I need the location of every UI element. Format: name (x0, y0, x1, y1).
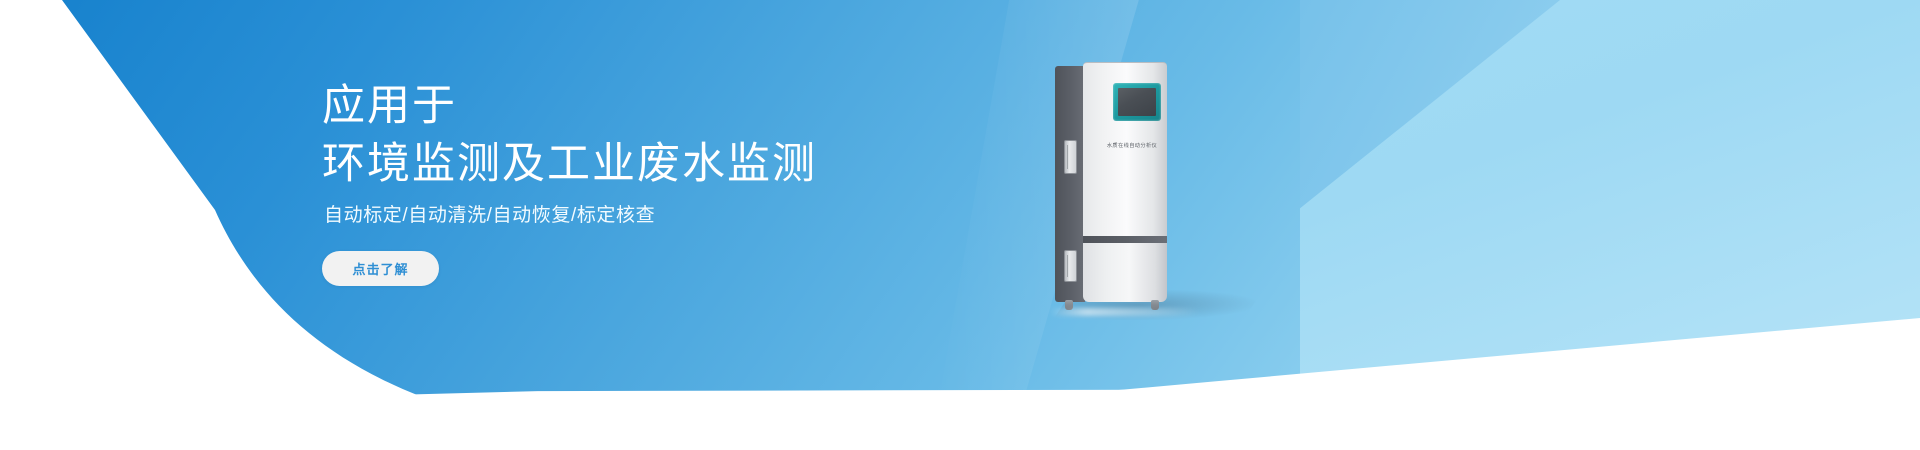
banner-subtitle: 自动标定/自动清洗/自动恢复/标定核查 (324, 201, 655, 231)
display-bezel (1113, 83, 1161, 121)
display-screen (1118, 88, 1156, 116)
cabinet-lower-door (1083, 243, 1167, 302)
cta-learn-more-button[interactable]: 点击了解 (322, 251, 439, 286)
hero-banner: 应用于 环境监测及工业废水监测 自动标定/自动清洗/自动恢复/标定核查 点击了解… (0, 0, 1920, 450)
cabinet-lower-handle (1064, 250, 1077, 282)
product-floor-highlight (1049, 308, 1199, 316)
product-nameplate: 水质在线自动分析仪 (1099, 142, 1165, 149)
cabinet-divider (1083, 236, 1167, 243)
banner-headline: 应用于 环境监测及工业废水监测 (322, 77, 817, 193)
banner-text-block: 应用于 环境监测及工业废水监测 自动标定/自动清洗/自动恢复/标定核查 点击了解 (322, 0, 1082, 450)
product-image: 水质在线自动分析仪 (1055, 62, 1315, 322)
headline-line-1: 应用于 (322, 77, 817, 135)
headline-line-2: 环境监测及工业废水监测 (322, 135, 817, 193)
water-quality-analyzer-cabinet: 水质在线自动分析仪 (1055, 62, 1167, 310)
cabinet-upper-handle (1064, 140, 1077, 174)
